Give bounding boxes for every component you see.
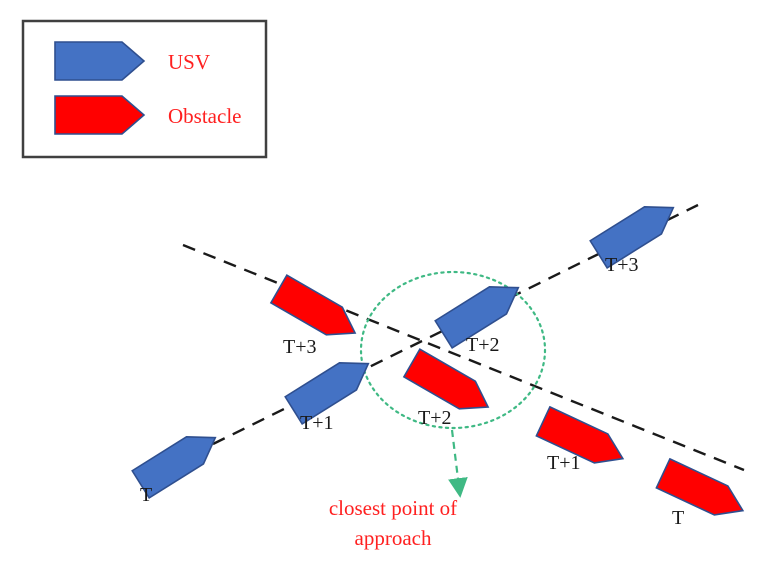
cpa-annotation-line-2: approach xyxy=(355,526,432,550)
cpa-annotation-line-1: closest point of xyxy=(329,496,457,520)
legend-label-obstacle: Obstacle xyxy=(168,104,241,128)
usv-label-T+2: T+2 xyxy=(466,334,500,356)
diagram-canvas: USV Obstacle xyxy=(0,0,758,574)
cpa-pointer-arrow xyxy=(452,430,459,487)
obstacle-trajectory-line xyxy=(183,245,744,470)
usv-label-T: T xyxy=(140,484,152,506)
obstacle-label-T: T xyxy=(672,507,684,529)
obstacle-label-T+2: T+2 xyxy=(418,407,452,429)
usv-cpa-diagram: USV Obstacle xyxy=(0,0,758,574)
obstacle-vessel-T xyxy=(656,459,749,525)
obstacle-label-T+3: T+3 xyxy=(283,336,317,358)
obstacle-label-T+1: T+1 xyxy=(547,452,581,474)
usv-label-T+3: T+3 xyxy=(605,254,639,276)
legend: USV Obstacle xyxy=(23,21,266,157)
usv-label-T+1: T+1 xyxy=(300,412,334,434)
legend-label-usv: USV xyxy=(168,50,210,74)
